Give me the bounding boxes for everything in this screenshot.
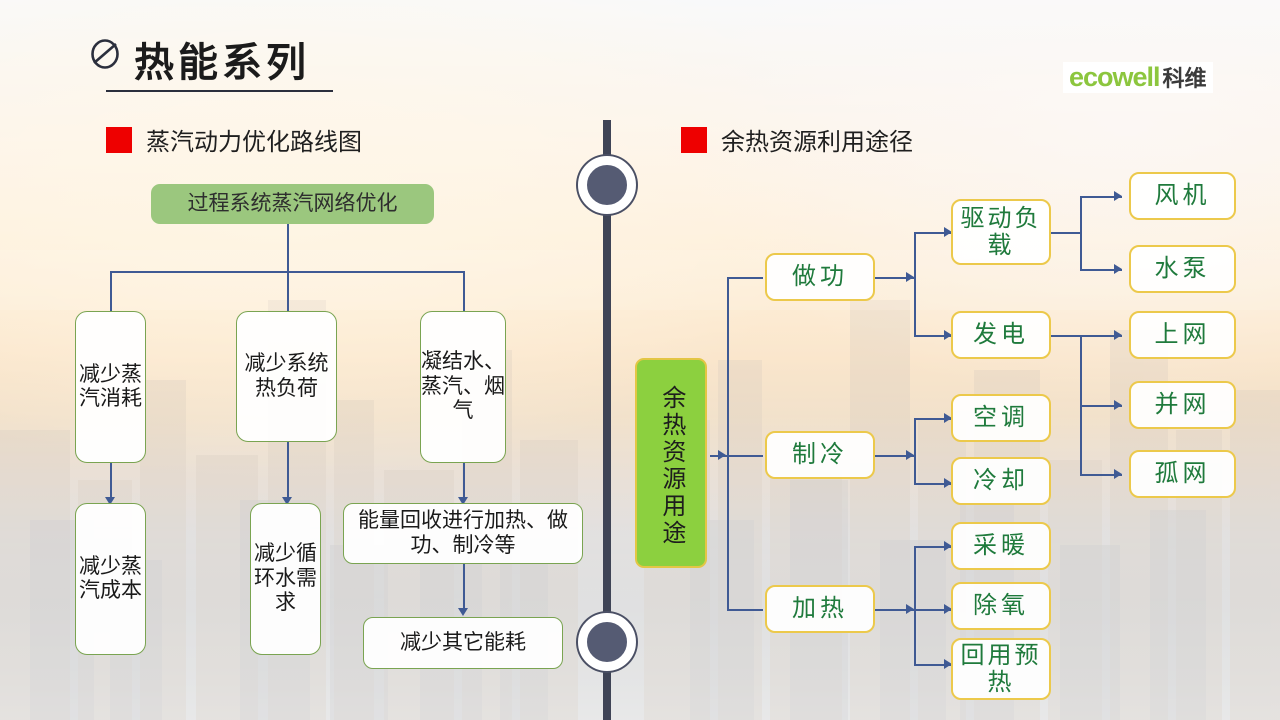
arrow-right-guwang [1114, 469, 1122, 479]
right-leaf-guwang: 孤网 [1129, 450, 1236, 498]
arrow-down-4 [458, 608, 468, 616]
arrow-right-zuogong [906, 272, 914, 282]
center-label-box: 余热资源用途 [635, 358, 707, 568]
connector-to-jiare [727, 609, 763, 611]
red-square-marker-icon [106, 127, 132, 153]
page-title: 热能系列 [134, 30, 310, 88]
right-node-zhileng: 制冷 [765, 431, 875, 479]
connector-drop-2 [287, 271, 289, 311]
right-node-fadian: 发电 [951, 311, 1051, 359]
connector-zuogong-split [914, 232, 916, 336]
right-leaf-fengji: 风机 [1129, 172, 1236, 220]
arrow-right-jiare [906, 604, 914, 614]
left-node-l2-3: 能量回收进行加热、做功、制冷等 [343, 503, 583, 564]
right-node-zuogong: 做功 [765, 253, 875, 301]
left-root-box: 过程系统蒸汽网络优化 [151, 184, 434, 224]
connector-qudong-out [1051, 232, 1081, 234]
right-leaf-shuibeng: 水泵 [1129, 245, 1236, 293]
timeline-dot-top [578, 156, 636, 214]
arrow-right-bingwang [1114, 400, 1122, 410]
connector-drop-1 [110, 271, 112, 311]
section-header-right: 余热资源利用途径 [681, 122, 913, 157]
slashed-circle-icon [88, 36, 122, 70]
logo-primary-text: ecowell [1069, 64, 1160, 91]
arrow-right-zhileng [906, 450, 914, 460]
connector-root-stem [287, 224, 289, 272]
timeline-dot-bottom [578, 613, 636, 671]
connector-l2-3-to-l3 [463, 564, 465, 610]
connector-drop-3 [463, 271, 465, 311]
connector-l1-2-to-l2 [287, 442, 289, 499]
arrow-right-shuibeng [1114, 264, 1122, 274]
right-node-kongtiao: 空调 [951, 394, 1051, 442]
left-node-l2-1: 减少蒸汽成本 [75, 503, 146, 655]
right-node-lengque: 冷却 [951, 457, 1051, 505]
arrow-right-fengji [1114, 191, 1122, 201]
connector-l1-3-to-l2 [463, 463, 465, 499]
connector-jiare-split [914, 546, 916, 665]
right-node-chuyang: 除氧 [951, 582, 1051, 630]
connector-to-zhileng [727, 455, 763, 457]
logo-secondary-text: 科维 [1163, 68, 1207, 90]
left-node-l1-1: 减少蒸汽消耗 [75, 311, 146, 463]
connector-to-zuogong [727, 277, 763, 279]
right-node-huiyong-yure: 回用预热 [951, 638, 1051, 700]
connector-zhileng-split [914, 418, 916, 484]
section-left-label: 蒸汽动力优化路线图 [146, 122, 362, 157]
connector-fadian-out [1051, 335, 1081, 337]
arrow-right-center [718, 450, 726, 460]
arrow-right-shangwang [1114, 330, 1122, 340]
title-underline [106, 90, 333, 92]
right-leaf-bingwang: 并网 [1129, 381, 1236, 429]
left-node-l1-2: 减少系统热负荷 [236, 311, 337, 442]
left-node-l1-3: 凝结水、蒸汽、烟气 [420, 311, 506, 463]
red-square-marker-icon [681, 127, 707, 153]
left-node-l2-2: 减少循环水需求 [250, 503, 321, 655]
right-leaf-shangwang: 上网 [1129, 311, 1236, 359]
right-node-qudong-fuzai: 驱动负载 [951, 199, 1051, 265]
slide-canvas: 热能系列 ecowell 科维 蒸汽动力优化路线图 余热资源利用途径 余热资源用… [0, 0, 1280, 720]
brand-logo: ecowell 科维 [1063, 62, 1213, 93]
right-node-jiare: 加热 [765, 585, 875, 633]
connector-right-trunk [727, 277, 729, 611]
right-node-cainuan: 采暖 [951, 522, 1051, 570]
section-header-left: 蒸汽动力优化路线图 [106, 122, 362, 157]
left-node-l3-1: 减少其它能耗 [363, 617, 563, 669]
section-right-label: 余热资源利用途径 [721, 122, 913, 157]
connector-qudong-split [1080, 196, 1082, 270]
connector-l1-1-to-l2 [110, 463, 112, 499]
